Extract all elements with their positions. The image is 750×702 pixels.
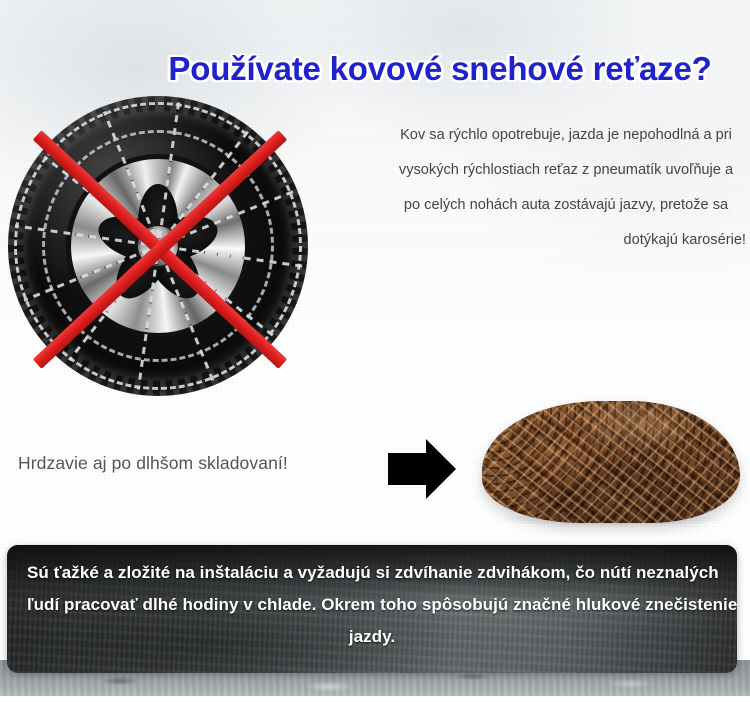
banner-line: jazdy. (27, 621, 717, 653)
body-line: vysokých rýchlostiach reťaz z pneumatík … (386, 153, 746, 188)
body-line: dotýkajú karosérie! (386, 223, 746, 258)
bottom-white-edge (0, 696, 750, 702)
body-line: Kov sa rýchlo opotrebuje, jazda je nepoh… (386, 118, 746, 153)
right-arrow-icon (388, 437, 456, 501)
rust-caption: Hrdzavie aj po dlhšom skladovaní! (18, 453, 288, 474)
banner-text-block: Sú ťažké a zložité na inštaláciu a vyžad… (27, 557, 717, 653)
body-line: po celých nohách auta zostávajú jazvy, p… (386, 188, 746, 223)
rust-chain-highlights (482, 401, 740, 523)
page-title: Používate kovové snehové reťaze? (130, 50, 750, 88)
banner-line: Sú ťažké a zložité na inštaláciu a vyžad… (27, 557, 717, 589)
rusty-chain-pile-photo (482, 388, 740, 523)
infographic-canvas: Používate kovové snehové reťaze? Kov sa … (0, 0, 750, 702)
red-cross-mark (0, 94, 320, 404)
body-paragraph: Kov sa rýchlo opotrebuje, jazda je nepoh… (386, 118, 746, 258)
banner-line: ľudí pracovať dlhé hodiny v chlade. Okre… (27, 589, 717, 621)
bottom-banner: Sú ťažké a zložité na inštaláciu a vyžad… (7, 545, 737, 673)
rust-pile-body (482, 401, 740, 523)
